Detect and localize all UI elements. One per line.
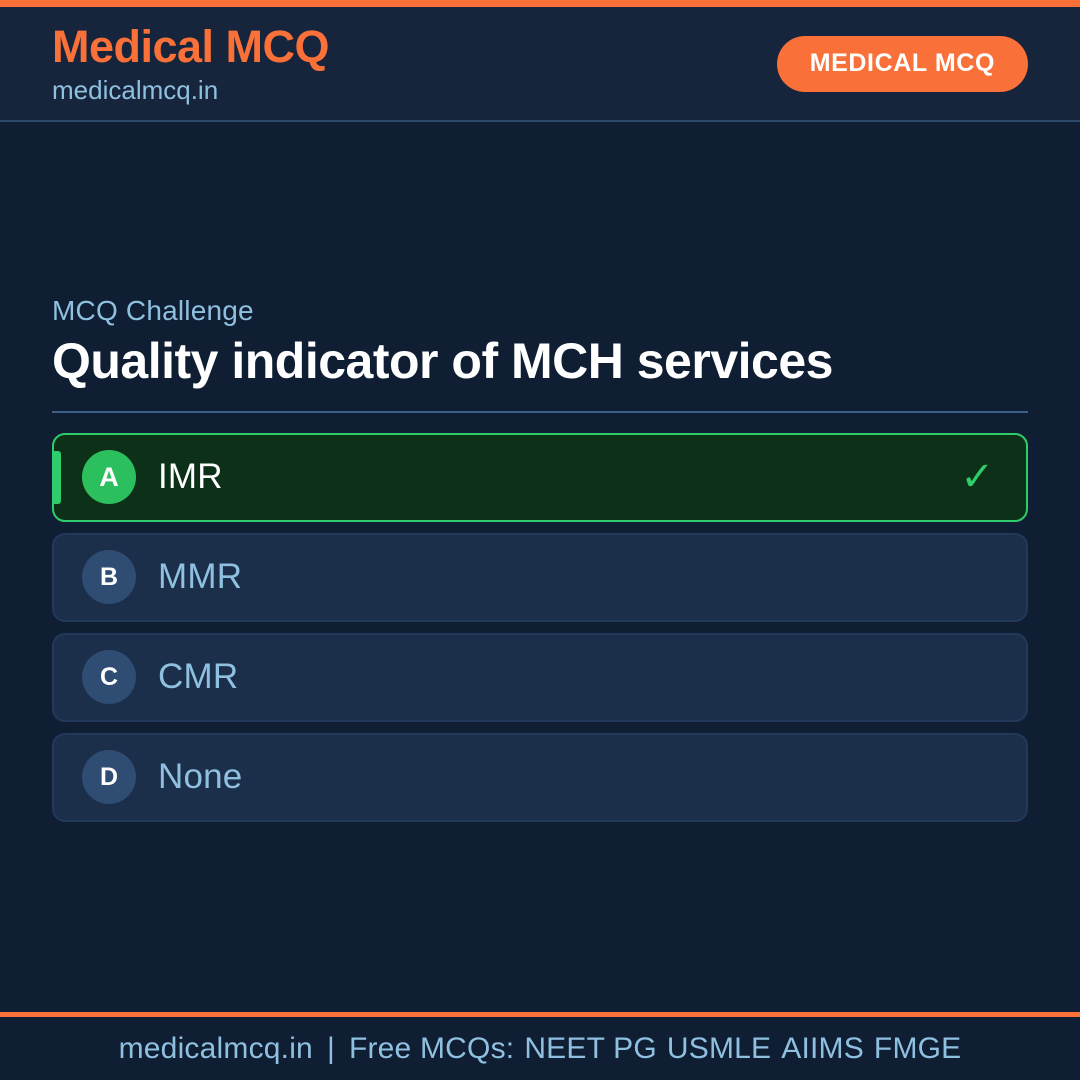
option-c-letter-badge: C — [82, 650, 136, 704]
option-a-label: IMR — [158, 457, 960, 497]
option-d-label: None — [158, 757, 994, 797]
option-a-letter-badge: A — [82, 450, 136, 504]
option-a[interactable]: A IMR ✓ — [52, 433, 1028, 522]
brand: Medical MCQ medicalmcq.in — [52, 24, 329, 103]
option-b-label: MMR — [158, 557, 994, 597]
footer-exam-list: NEET PGUSMLEAIIMSFMGE — [514, 1032, 961, 1065]
top-accent-strip — [0, 0, 1080, 7]
footer-site[interactable]: medicalmcq.in — [119, 1032, 313, 1065]
brand-subtitle: medicalmcq.in — [52, 77, 329, 103]
brand-title: Medical MCQ — [52, 24, 329, 69]
option-d[interactable]: D None — [52, 733, 1028, 822]
header-badge: MEDICAL MCQ — [777, 36, 1028, 92]
eyebrow-label: MCQ Challenge — [52, 295, 1028, 327]
question-text: Quality indicator of MCH services — [52, 333, 1028, 389]
correct-accent-bar — [54, 451, 61, 504]
footer-exam-fmge[interactable]: FMGE — [864, 1032, 961, 1065]
footer-exam-neet-pg[interactable]: NEET PG — [514, 1032, 657, 1065]
question-divider — [52, 411, 1028, 413]
footer-bar: medicalmcq.in|Free MCQs:NEET PGUSMLEAIIM… — [0, 1012, 1080, 1080]
header-bar: Medical MCQ medicalmcq.in MEDICAL MCQ — [0, 7, 1080, 122]
mcq-card: Medical MCQ medicalmcq.in MEDICAL MCQ MC… — [0, 0, 1080, 1080]
footer-exam-usmle[interactable]: USMLE — [657, 1032, 771, 1065]
option-d-letter-badge: D — [82, 750, 136, 804]
option-b-letter-badge: B — [82, 550, 136, 604]
main-content: MCQ Challenge Quality indicator of MCH s… — [0, 122, 1080, 1012]
options-list: A IMR ✓ B MMR C CMR — [52, 433, 1028, 822]
check-icon: ✓ — [960, 457, 994, 497]
footer-text: medicalmcq.in|Free MCQs:NEET PGUSMLEAIIM… — [119, 1032, 962, 1066]
footer-separator: | — [313, 1032, 349, 1065]
question-block: MCQ Challenge Quality indicator of MCH s… — [52, 295, 1028, 822]
option-c[interactable]: C CMR — [52, 633, 1028, 722]
footer-exam-aiims[interactable]: AIIMS — [771, 1032, 864, 1065]
footer-exams-prefix: Free MCQs: — [349, 1032, 514, 1065]
option-c-label: CMR — [158, 657, 994, 697]
option-b[interactable]: B MMR — [52, 533, 1028, 622]
